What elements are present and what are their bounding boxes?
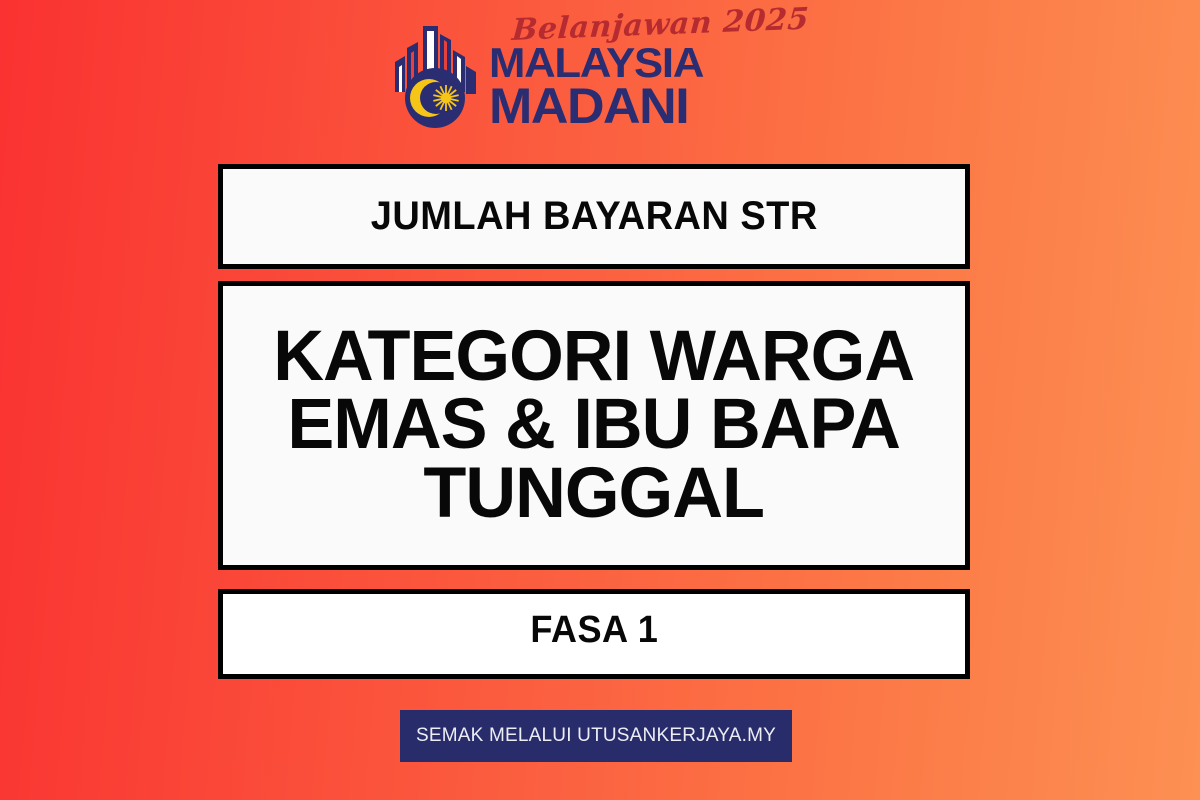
malaysia-madani-logo-icon [393, 22, 481, 132]
check-via-website-button[interactable]: SEMAK MELALUI UTUSANKERJAYA.MY [400, 710, 792, 762]
title-line-2: EMAS & IBU BAPA [274, 391, 915, 459]
title-line-3: TUNGGAL [274, 460, 915, 528]
title-panel: KATEGORI WARGA EMAS & IBU BAPA TUNGGAL [218, 281, 970, 570]
title-line-1: KATEGORI WARGA [274, 323, 915, 391]
phase-panel: FASA 1 [218, 589, 970, 679]
brand-name-line-2: MADANI [489, 83, 688, 129]
brand-lockup: Belanjawan 2025 MALAYSIA MADANI [0, 14, 1200, 139]
subtitle-text: JUMLAH BAYARAN STR [370, 194, 817, 239]
phase-label: FASA 1 [530, 609, 658, 652]
cta-label: SEMAK MELALUI UTUSANKERJAYA.MY [416, 725, 776, 747]
brand-lockup-inner: Belanjawan 2025 MALAYSIA MADANI [393, 14, 807, 132]
brand-wordmark: Belanjawan 2025 MALAYSIA MADANI [489, 14, 807, 129]
subtitle-panel: JUMLAH BAYARAN STR [218, 164, 970, 269]
page-title: KATEGORI WARGA EMAS & IBU BAPA TUNGGAL [260, 323, 929, 527]
